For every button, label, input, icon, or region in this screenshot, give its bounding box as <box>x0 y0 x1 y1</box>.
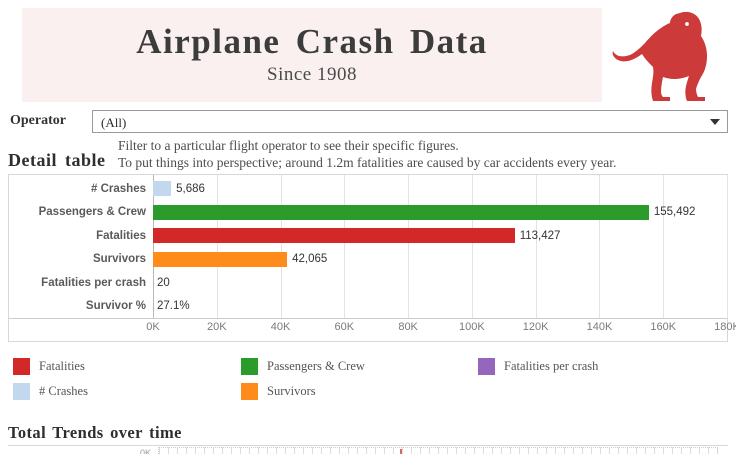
trends-plot-area <box>158 447 718 454</box>
bar-value-label: 42,065 <box>287 253 327 265</box>
legend-color-swatch <box>478 358 495 375</box>
dashboard-header: Airplane Crash Data Since 1908 <box>0 0 736 104</box>
tyrannosaurus-rex-icon <box>608 4 728 104</box>
page-title: Airplane Crash Data <box>136 24 488 61</box>
bar-fill[interactable] <box>153 228 515 243</box>
caption-line-1: Filter to a particular flight operator t… <box>118 137 736 154</box>
table-row: Fatalities113,427 <box>9 224 727 248</box>
bar-value-label: 27.1% <box>153 300 190 312</box>
operator-dropdown-value: (All) <box>101 115 126 131</box>
axis-tick-label: 120K <box>523 321 549 333</box>
legend-item[interactable]: Passengers & Crew <box>241 358 365 375</box>
table-row: Passengers & Crew155,492 <box>9 201 727 225</box>
bar-value-label: 155,492 <box>649 206 696 218</box>
axis-tick-label: 140K <box>587 321 613 333</box>
bar-row-label: Survivor % <box>9 300 153 312</box>
legend-label: Fatalities <box>30 359 85 374</box>
chart-legend: Fatalities# CrashesPassengers & CrewSurv… <box>8 358 728 408</box>
trends-top-rule <box>8 445 728 446</box>
bar-track: 113,427 <box>153 224 727 248</box>
axis-tick-label: 100K <box>459 321 485 333</box>
bar-fill[interactable] <box>153 205 649 220</box>
bar-row-label: Passengers & Crew <box>9 206 153 218</box>
table-row: # Crashes5,686 <box>9 177 727 201</box>
legend-color-swatch <box>241 383 258 400</box>
page-subtitle: Since 1908 <box>267 64 357 86</box>
bar-track: 155,492 <box>153 201 727 225</box>
bar-track: 5,686 <box>153 177 727 201</box>
operator-filter-label: Operator <box>10 113 66 129</box>
table-row: Survivor %27.1% <box>9 295 727 319</box>
detail-table-heading: Detail table <box>8 150 105 171</box>
caption-block: Filter to a particular flight operator t… <box>118 137 736 171</box>
bar-value-label: 113,427 <box>515 230 561 242</box>
legend-item[interactable]: Fatalities per crash <box>478 358 598 375</box>
operator-filter-row: Operator (All) <box>0 110 736 136</box>
bar-row-label: Survivors <box>9 253 153 265</box>
axis-tick-label: 180K <box>714 321 736 333</box>
legend-label: Survivors <box>258 384 316 399</box>
chevron-down-icon[interactable] <box>710 119 720 125</box>
legend-label: Passengers & Crew <box>258 359 365 374</box>
bar-fill[interactable] <box>153 181 171 196</box>
trends-chart-panel: 0K <box>8 445 728 454</box>
bar-value-label: 5,686 <box>171 183 205 195</box>
bar-track: 20 <box>153 271 727 295</box>
detail-table-chart: # Crashes5,686Passengers & Crew155,492Fa… <box>8 174 728 342</box>
axis-tick-label: 160K <box>650 321 676 333</box>
legend-color-swatch <box>13 383 30 400</box>
bar-row-label: Fatalities per crash <box>9 277 153 289</box>
bar-value-label: 20 <box>153 277 170 289</box>
chart-axis-baseline <box>9 318 727 319</box>
operator-dropdown[interactable]: (All) <box>92 110 728 133</box>
bar-row-label: # Crashes <box>9 183 153 195</box>
bar-track: 42,065 <box>153 248 727 272</box>
axis-tick-label: 80K <box>398 321 418 333</box>
caption-line-2: To put things into perspective; around 1… <box>118 154 736 171</box>
gridline <box>727 175 728 318</box>
legend-color-swatch <box>13 358 30 375</box>
axis-tick-label: 40K <box>271 321 291 333</box>
axis-tick-label: 0K <box>146 321 159 333</box>
legend-label: # Crashes <box>30 384 88 399</box>
legend-item[interactable]: Fatalities <box>13 358 85 375</box>
axis-tick-label: 20K <box>207 321 227 333</box>
table-row: Fatalities per crash20 <box>9 271 727 295</box>
chart-x-axis-labels: 0K20K40K60K80K100K120K140K160K180K <box>153 321 727 339</box>
header-title-block: Airplane Crash Data Since 1908 <box>22 8 602 102</box>
legend-item[interactable]: Survivors <box>241 383 316 400</box>
trends-section-heading: Total Trends over time <box>8 423 182 443</box>
trends-axis-label: 0K <box>140 448 151 454</box>
legend-item[interactable]: # Crashes <box>13 383 88 400</box>
bar-track: 27.1% <box>153 295 727 319</box>
bar-rows-container: # Crashes5,686Passengers & Crew155,492Fa… <box>9 177 727 318</box>
bar-fill[interactable] <box>153 252 287 267</box>
legend-color-swatch <box>241 358 258 375</box>
legend-label: Fatalities per crash <box>495 359 598 374</box>
table-row: Survivors42,065 <box>9 248 727 272</box>
bar-row-label: Fatalities <box>9 230 153 242</box>
trends-data-marker <box>400 449 402 454</box>
axis-tick-label: 60K <box>335 321 355 333</box>
